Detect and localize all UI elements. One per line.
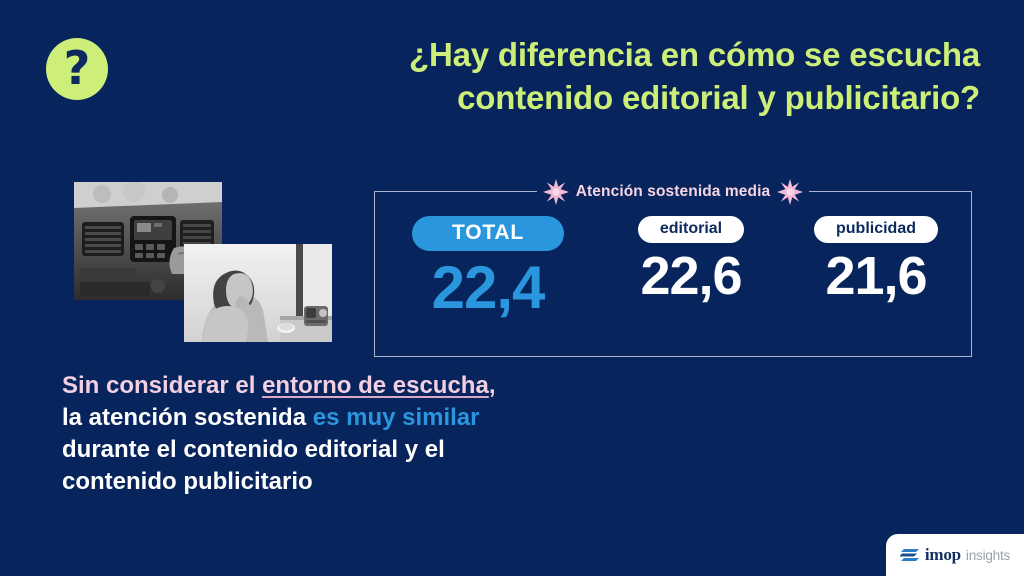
- stat-columns: TOTAL 22,4 editorial 22,6 publicidad 21,…: [375, 216, 971, 318]
- stat-label-publicidad: publicidad: [814, 216, 938, 243]
- panel-title: Atención sostenida media: [576, 183, 770, 201]
- sparkle-icon: [543, 179, 569, 205]
- page-title-line-2: contenido editorial y publicitario?: [134, 77, 980, 120]
- stat-value-publicidad: 21,6: [825, 249, 926, 304]
- summary-text: Sin considerar el entorno de escucha, la…: [62, 370, 682, 498]
- stat-value-editorial: 22,6: [640, 249, 741, 304]
- summary-line-2-highlight: es muy similar: [313, 404, 480, 431]
- question-mark-glyph: ?: [64, 45, 91, 91]
- stat-total: TOTAL 22,4: [375, 216, 601, 318]
- summary-line-1: Sin considerar el entorno de escucha,: [62, 370, 682, 402]
- photo-collage: [74, 182, 332, 342]
- summary-line-1-highlight: entorno de escucha: [262, 372, 489, 399]
- summary-line-1-c: ,: [489, 372, 496, 399]
- imop-logo-mark-icon: [900, 548, 920, 562]
- question-mark-icon: ?: [46, 38, 108, 100]
- summary-line-1-a: Sin considerar el: [62, 372, 262, 399]
- woman-listening-radio-photo: [184, 244, 332, 342]
- stat-editorial: editorial 22,6: [601, 216, 781, 304]
- stat-value-total: 22,4: [432, 257, 545, 318]
- summary-line-3: durante el contenido editorial y el: [62, 434, 682, 466]
- page-title-line-1: ¿Hay diferencia en cómo se escucha: [134, 34, 980, 77]
- sparkle-icon: [777, 179, 803, 205]
- summary-line-2-a: la atención sostenida: [62, 404, 313, 431]
- imop-insights-logo: imop insights: [886, 534, 1024, 576]
- summary-line-2: la atención sostenida es muy similar: [62, 402, 682, 434]
- stat-label-editorial: editorial: [638, 216, 744, 243]
- logo-suffix: insights: [966, 548, 1010, 563]
- stat-label-total: TOTAL: [412, 216, 564, 251]
- stats-panel: Atención sostenida media TOTAL 22,4 edit…: [374, 191, 972, 357]
- summary-line-4: contenido publicitario: [62, 466, 682, 498]
- page-title: ¿Hay diferencia en cómo se escucha conte…: [134, 34, 986, 120]
- slide-root: { "slide": { "background_color": "#07255…: [0, 0, 1024, 576]
- panel-title-wrap: Atención sostenida media: [375, 179, 971, 205]
- slide-header: ? ¿Hay diferencia en cómo se escucha con…: [46, 34, 986, 120]
- logo-name: imop: [925, 545, 961, 565]
- stat-publicidad: publicidad 21,6: [781, 216, 971, 304]
